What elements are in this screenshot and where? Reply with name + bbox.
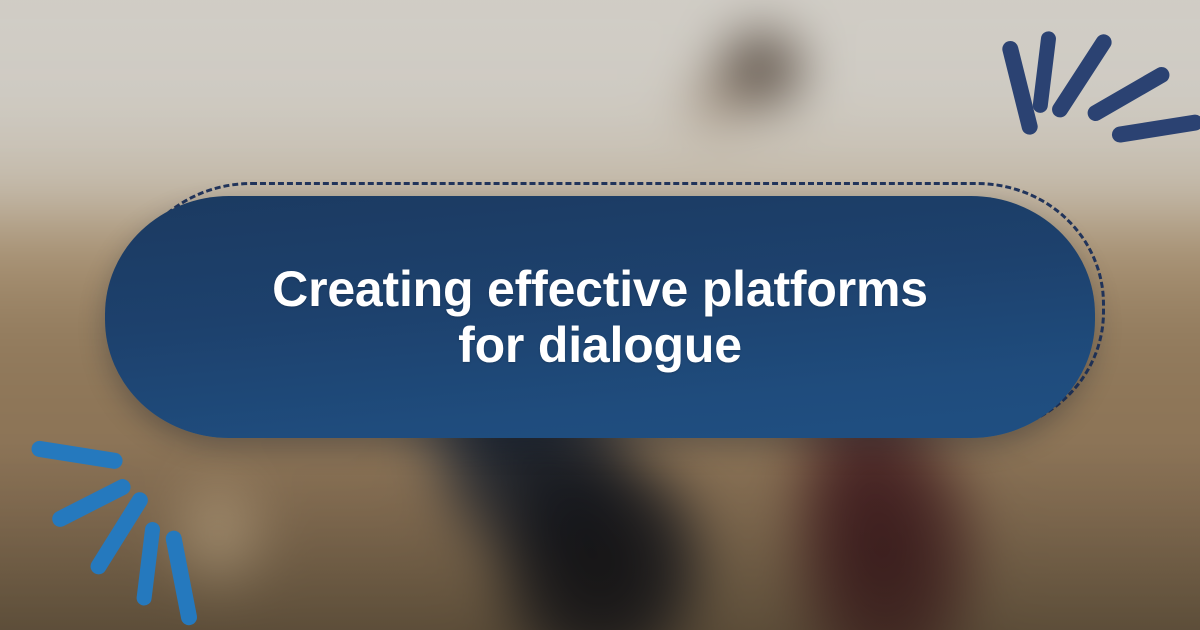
page-title: Creating effective platforms for dialogu…	[232, 261, 968, 373]
card-body: Creating effective platforms for dialogu…	[105, 196, 1095, 438]
page-title-line-2: for dialogue	[272, 317, 928, 373]
title-card: Creating effective platforms for dialogu…	[105, 182, 1095, 438]
page-title-line-1: Creating effective platforms	[272, 261, 928, 317]
screenshot-canvas: Creating effective platforms for dialogu…	[0, 0, 1200, 630]
